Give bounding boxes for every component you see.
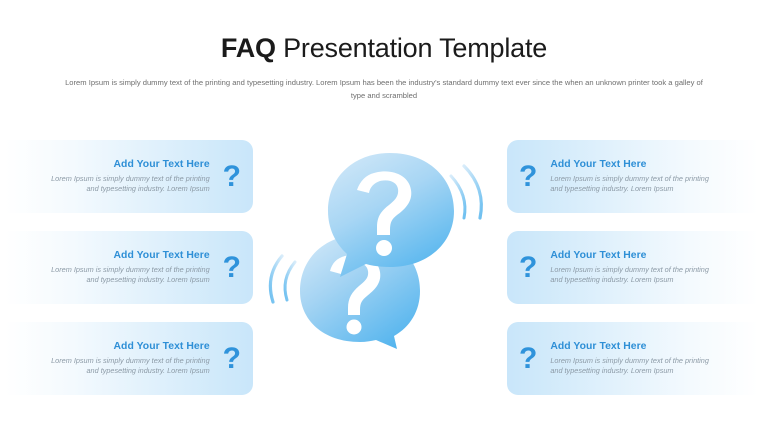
faq-card-body-line1: Lorem Ipsum is simply dummy text of the … — [51, 356, 210, 367]
faq-card-heading: Add Your Text Here — [550, 341, 709, 352]
faq-card-body-line2: and typesetting industry. Lorem Ipsum — [550, 184, 709, 195]
faq-card-body-line1: Lorem Ipsum is simply dummy text of the … — [550, 265, 709, 276]
faq-card-left-1[interactable]: Add Your Text Here Lorem Ipsum is simply… — [5, 140, 253, 213]
faq-card-body-line1: Lorem Ipsum is simply dummy text of the … — [51, 265, 210, 276]
page-title-bold: FAQ — [221, 33, 276, 63]
faq-card-heading: Add Your Text Here — [550, 250, 709, 261]
faq-card-right-3[interactable]: ? Add Your Text Here Lorem Ipsum is simp… — [507, 322, 758, 395]
question-mark-icon: ? — [519, 344, 537, 374]
faq-card-text: Add Your Text Here Lorem Ipsum is simply… — [550, 159, 709, 195]
page-title: FAQ Presentation Template — [0, 33, 768, 63]
faq-card-text: Add Your Text Here Lorem Ipsum is simply… — [51, 250, 210, 286]
faq-card-body-line2: and typesetting industry. Lorem Ipsum — [51, 366, 210, 377]
question-mark-icon: ? — [223, 162, 241, 192]
speech-bubble-upper — [328, 153, 454, 277]
faq-card-body-line1: Lorem Ipsum is simply dummy text of the … — [51, 174, 210, 185]
page-subtitle: Lorem Ipsum is simply dummy text of the … — [64, 76, 704, 102]
page-title-rest: Presentation Template — [276, 33, 547, 63]
faq-bubbles-graphic — [268, 150, 500, 350]
question-mark-icon: ? — [519, 253, 537, 283]
faq-card-left-3[interactable]: Add Your Text Here Lorem Ipsum is simply… — [5, 322, 253, 395]
faq-card-body-line2: and typesetting industry. Lorem Ipsum — [550, 366, 709, 377]
faq-card-left-2[interactable]: Add Your Text Here Lorem Ipsum is simply… — [5, 231, 253, 304]
faq-card-text: Add Your Text Here Lorem Ipsum is simply… — [550, 250, 709, 286]
faq-card-heading: Add Your Text Here — [51, 159, 210, 170]
faq-card-heading: Add Your Text Here — [51, 250, 210, 261]
faq-card-text: Add Your Text Here Lorem Ipsum is simply… — [51, 159, 210, 195]
motion-arc-left-icon — [270, 256, 295, 302]
question-mark-icon: ? — [519, 162, 537, 192]
faq-card-body-line2: and typesetting industry. Lorem Ipsum — [550, 275, 709, 286]
slide-canvas: FAQ Presentation Template Lorem Ipsum is… — [0, 0, 768, 432]
faq-card-right-1[interactable]: ? Add Your Text Here Lorem Ipsum is simp… — [507, 140, 758, 213]
faq-card-right-2[interactable]: ? Add Your Text Here Lorem Ipsum is simp… — [507, 231, 758, 304]
faq-card-heading: Add Your Text Here — [550, 159, 709, 170]
faq-card-body-line1: Lorem Ipsum is simply dummy text of the … — [550, 356, 709, 367]
question-mark-icon: ? — [223, 344, 241, 374]
motion-arc-right-icon — [451, 166, 481, 218]
question-mark-icon: ? — [223, 253, 241, 283]
faq-card-body-line1: Lorem Ipsum is simply dummy text of the … — [550, 174, 709, 185]
faq-card-text: Add Your Text Here Lorem Ipsum is simply… — [51, 341, 210, 377]
faq-card-text: Add Your Text Here Lorem Ipsum is simply… — [550, 341, 709, 377]
faq-card-body-line2: and typesetting industry. Lorem Ipsum — [51, 184, 210, 195]
faq-card-heading: Add Your Text Here — [51, 341, 210, 352]
faq-card-body-line2: and typesetting industry. Lorem Ipsum — [51, 275, 210, 286]
